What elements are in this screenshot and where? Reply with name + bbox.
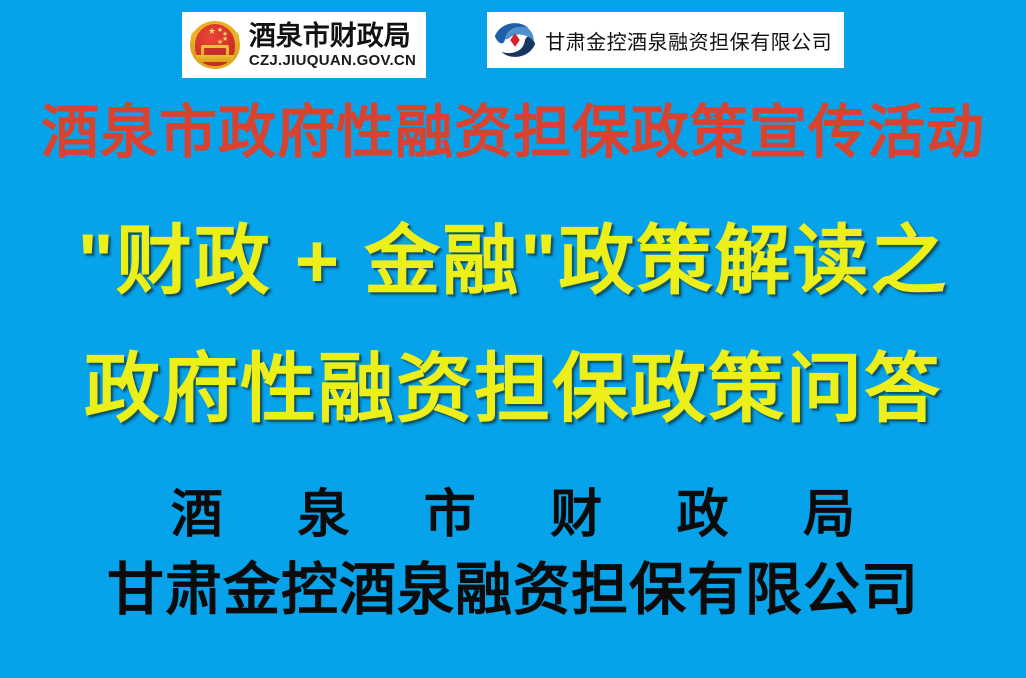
gansu-jinkong-guarantee-logo-card: 甘肃金控酒泉融资担保有限公司 [487, 12, 844, 68]
wave-circle-icon [491, 16, 539, 64]
left-logo-org-name: 酒泉市财政局 [249, 23, 416, 50]
logo-row: ★ ★ ★ ★ ★ 酒泉市财政局 CZJ.JIUQUAN.GOV.CN [0, 12, 1026, 76]
main-title-line-1: "财政 + 金融"政策解读之 [0, 198, 1026, 326]
footer-org-secondary: 甘肃金控酒泉融资担保有限公司 [0, 557, 1026, 623]
campaign-headline: 酒泉市政府性融资担保政策宣传活动 [0, 100, 1026, 166]
footer-org-primary: 酒 泉 市 财 政 局 [0, 485, 1026, 545]
main-title: "财政 + 金融"政策解读之 政府性融资担保政策问答 [0, 198, 1026, 454]
jiuquan-finance-bureau-logo-card: ★ ★ ★ ★ ★ 酒泉市财政局 CZJ.JIUQUAN.GOV.CN [182, 12, 426, 78]
left-logo-site-url: CZJ.JIUQUAN.GOV.CN [249, 53, 416, 68]
main-title-line-2: 政府性融资担保政策问答 [0, 326, 1026, 454]
left-logo-text: 酒泉市财政局 CZJ.JIUQUAN.GOV.CN [249, 23, 416, 68]
poster-root: ★ ★ ★ ★ ★ 酒泉市财政局 CZJ.JIUQUAN.GOV.CN [0, 0, 1026, 678]
national-emblem-icon: ★ ★ ★ ★ ★ [188, 18, 242, 72]
right-logo-org-name: 甘肃金控酒泉融资担保有限公司 [545, 26, 832, 55]
